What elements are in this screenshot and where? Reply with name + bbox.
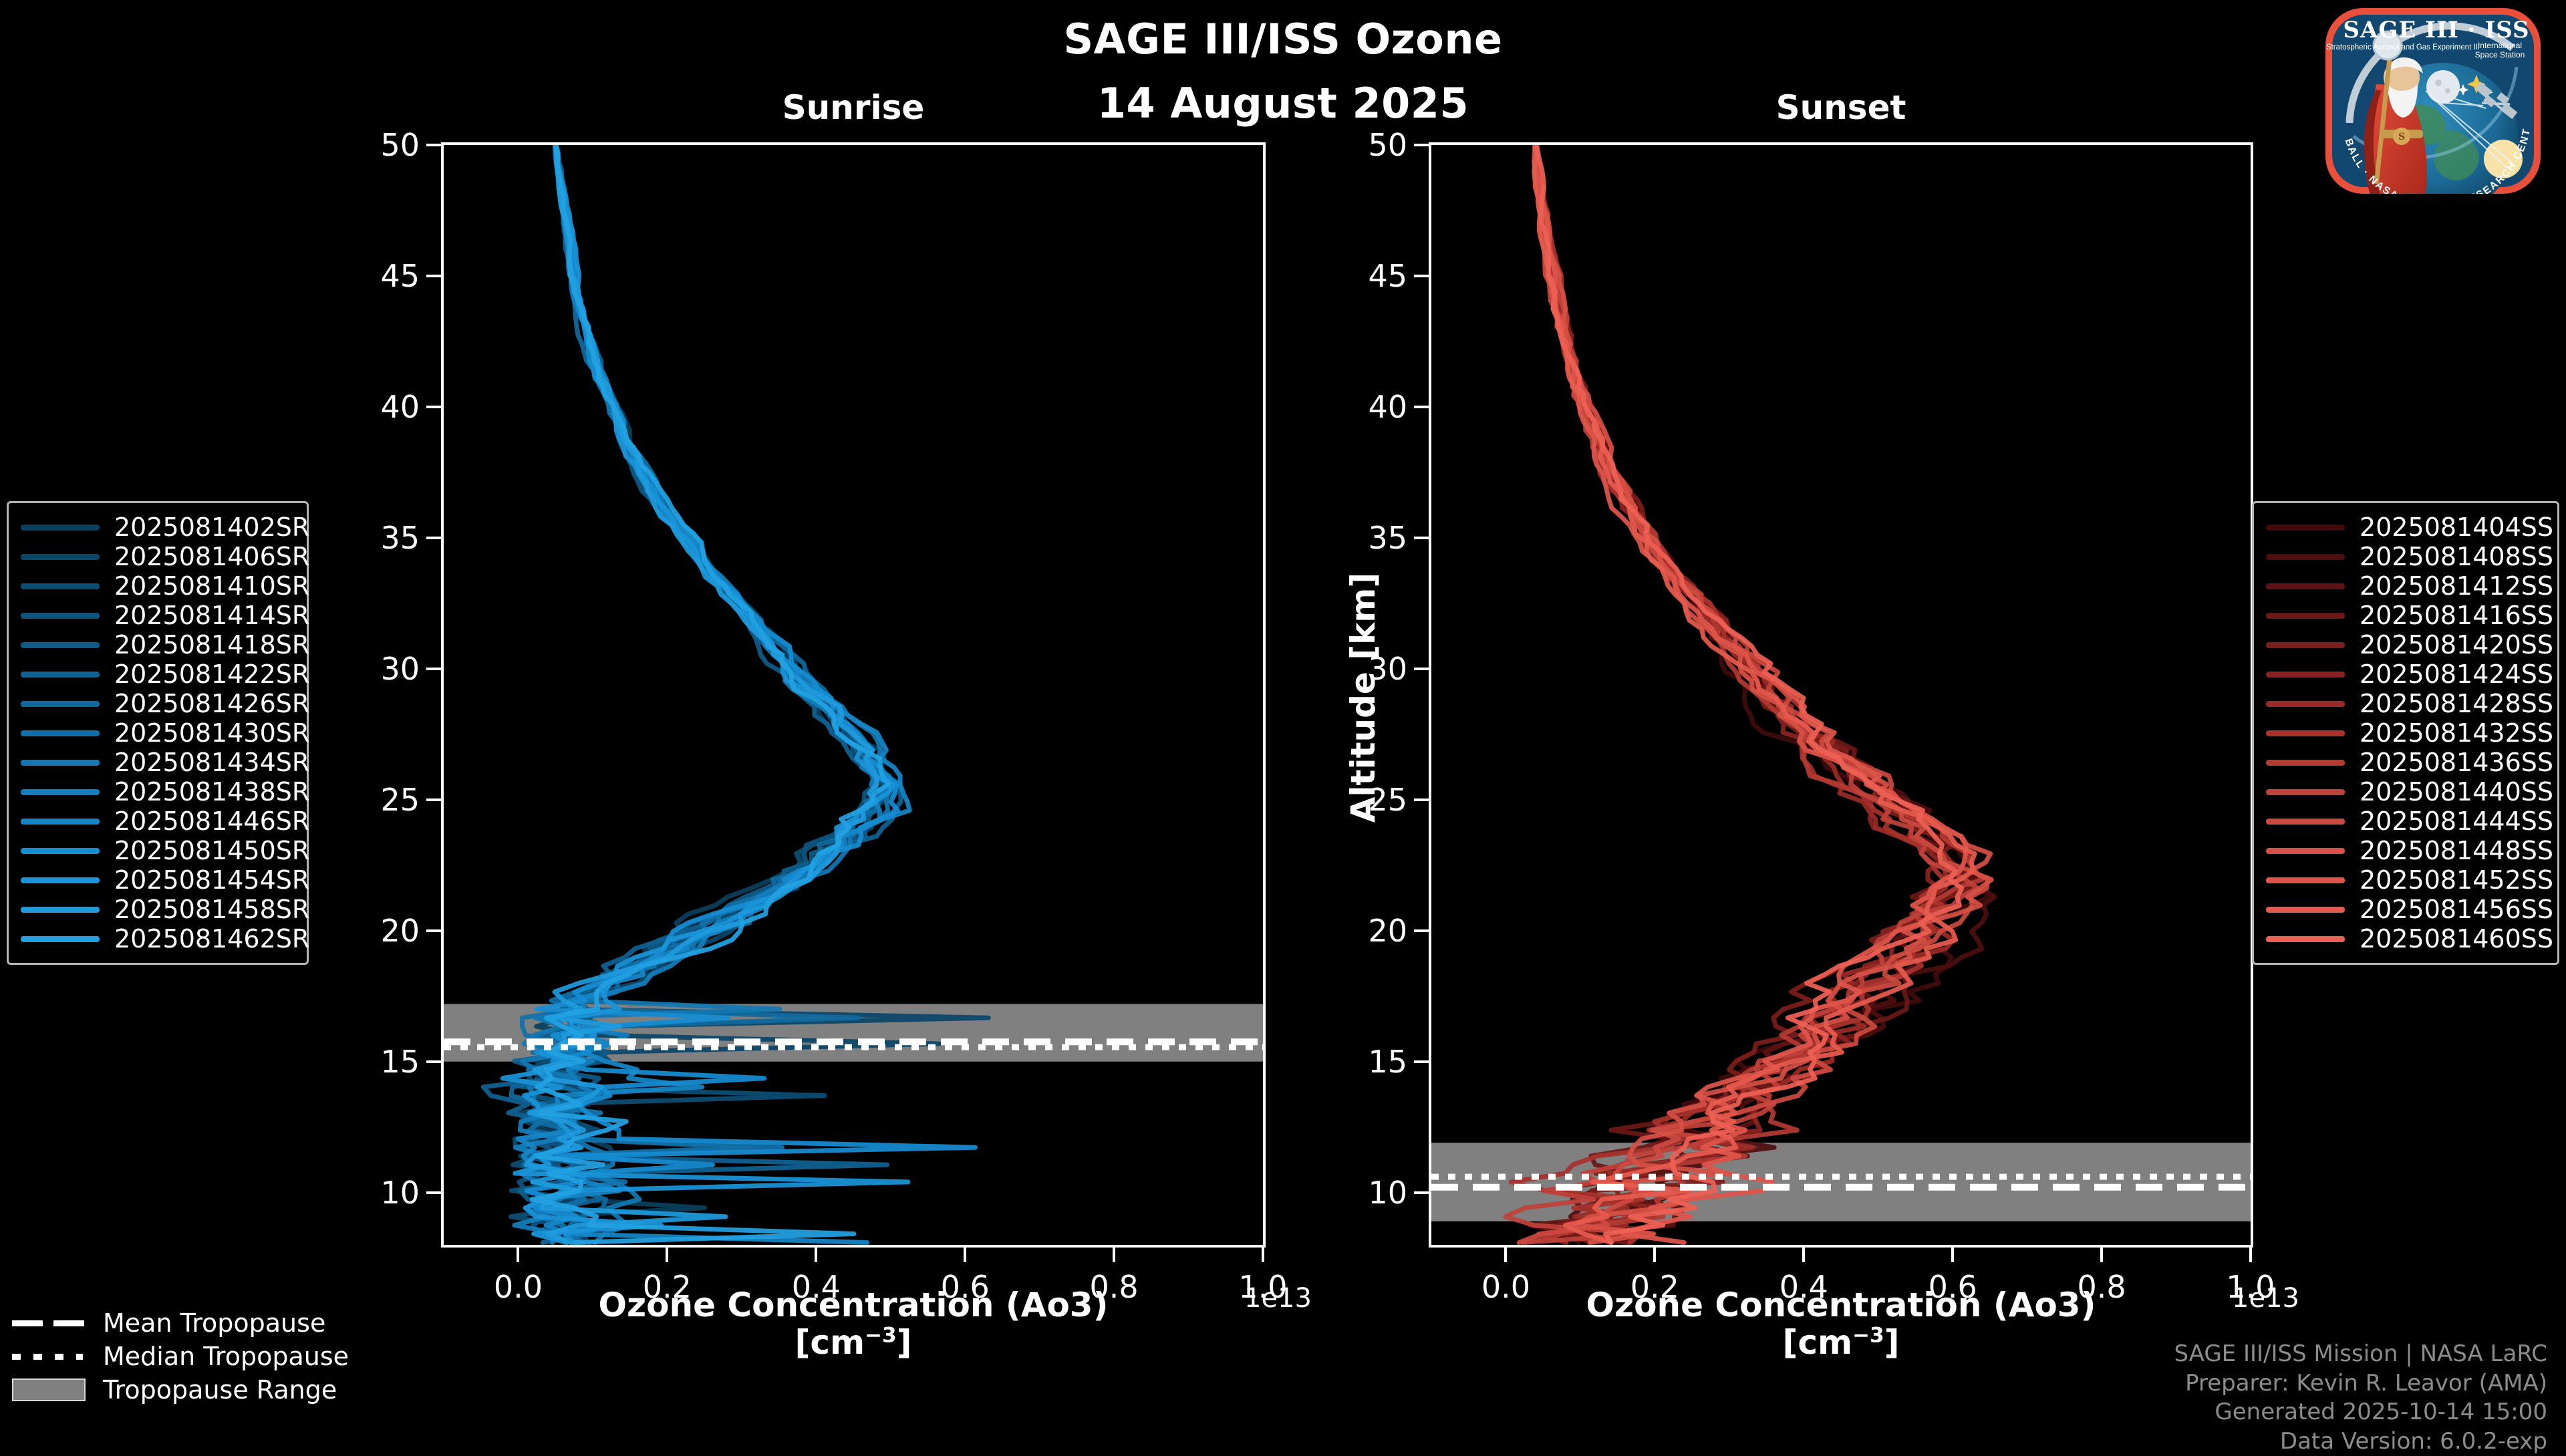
- y-tick-label-sunrise-30: 30: [334, 651, 420, 687]
- x-tick-label-sunrise-0.6: 0.6: [941, 1269, 990, 1305]
- legend-item-2025081460SS[interactable]: 2025081460SS: [2266, 924, 2545, 954]
- y-tick-sunrise-10: [426, 1191, 441, 1194]
- legend-item-2025081462SR[interactable]: 2025081462SR: [21, 924, 295, 954]
- legend-label-2025081420SS: 2025081420SS: [2360, 630, 2553, 660]
- legend-label-2025081458SR: 2025081458SR: [114, 895, 309, 924]
- legend-line-swatch-2025081416SS: [2266, 613, 2345, 619]
- legend-line-swatch-2025081444SS: [2266, 819, 2345, 825]
- y-tick-label-sunrise-20: 20: [334, 913, 420, 949]
- y-tick-label-sunset-45: 45: [1322, 258, 1407, 294]
- legend-line-swatch-2025081436SS: [2266, 760, 2345, 766]
- legend-line-swatch-2025081410SR: [21, 583, 100, 589]
- legend-item-2025081402SR[interactable]: 2025081402SR: [21, 513, 295, 542]
- legend-item-2025081446SR[interactable]: 2025081446SR: [21, 807, 295, 836]
- legend-label-2025081418SR: 2025081418SR: [114, 630, 309, 660]
- legend-label-2025081410SR: 2025081410SR: [114, 571, 309, 601]
- x-tick-label-sunrise-0.0: 0.0: [494, 1269, 543, 1305]
- legend-item-2025081418SR[interactable]: 2025081418SR: [21, 630, 295, 660]
- legend-item-2025081424SS[interactable]: 2025081424SS: [2266, 660, 2545, 689]
- credits-line-4: Data Version: 6.0.2-exp: [2174, 1427, 2547, 1456]
- y-tick-label-sunrise-45: 45: [334, 258, 420, 294]
- legend-line-swatch-2025081402SR: [21, 525, 100, 531]
- legend-item-2025081410SR[interactable]: 2025081410SR: [21, 571, 295, 601]
- y-tick-label-sunrise-35: 35: [334, 520, 420, 556]
- y-tick-sunrise-40: [426, 406, 441, 408]
- subplot-title-sunset: Sunset: [1429, 88, 2253, 127]
- legend-line-swatch-2025081422SR: [21, 672, 100, 678]
- x-axis-label-sunset: Ozone Concentration (Ao3) [cm−3]: [1429, 1286, 2253, 1361]
- x-tick-sunrise-0.2: [666, 1248, 668, 1262]
- x-tick-label-sunrise-1.0: 1.0: [1238, 1269, 1287, 1305]
- y-tick-sunset-45: [1414, 275, 1429, 277]
- x-tick-sunrise-0.6: [964, 1248, 966, 1262]
- svg-text:Space Station: Space Station: [2475, 50, 2525, 59]
- legend-item-2025081438SR[interactable]: 2025081438SR: [21, 777, 295, 807]
- figure-title-line1: SAGE III/ISS Ozone: [0, 15, 2566, 63]
- legend-item-tropopause-range[interactable]: Tropopause Range: [12, 1373, 349, 1407]
- legend-line-swatch-2025081450SR: [21, 848, 100, 854]
- legend-line-swatch-2025081438SR: [21, 789, 100, 795]
- legend-label-2025081432SS: 2025081432SS: [2360, 718, 2553, 748]
- x-tick-sunrise-1.0: [1262, 1248, 1264, 1262]
- y-tick-sunset-50: [1414, 144, 1429, 146]
- y-tick-label-sunset-30: 30: [1322, 651, 1407, 687]
- y-tick-sunset-15: [1414, 1060, 1429, 1063]
- svg-text:S: S: [2398, 132, 2405, 142]
- x-tick-label-sunset-1.0: 1.0: [2226, 1269, 2275, 1305]
- legend-item-2025081430SR[interactable]: 2025081430SR: [21, 718, 295, 748]
- x-axis-unit-sunset: [cm−3]: [1429, 1324, 2253, 1361]
- legend-label-2025081450SR: 2025081450SR: [114, 836, 309, 865]
- dashed-line-icon: [12, 1316, 86, 1330]
- legend-line-swatch-2025081454SR: [21, 877, 100, 883]
- legend-label-2025081446SR: 2025081446SR: [114, 807, 309, 836]
- y-tick-sunrise-25: [426, 798, 441, 801]
- svg-text:SAGE III · ISS: SAGE III · ISS: [2343, 17, 2529, 43]
- legend-item-2025081454SR[interactable]: 2025081454SR: [21, 865, 295, 895]
- legend-label-tropopause-range: Tropopause Range: [103, 1375, 337, 1405]
- svg-text:International: International: [2478, 41, 2522, 50]
- legend-line-swatch-2025081404SS: [2266, 525, 2345, 531]
- legend-item-2025081436SS[interactable]: 2025081436SS: [2266, 748, 2545, 777]
- logo-svg: S BALL · NASA LANGLEY RESEARCH CENTER · …: [2312, 5, 2553, 194]
- gray-patch-icon: [12, 1378, 86, 1401]
- legend-label-2025081402SR: 2025081402SR: [114, 513, 309, 542]
- legend-label-2025081404SS: 2025081404SS: [2360, 513, 2553, 542]
- legend-line-swatch-2025081434SR: [21, 760, 100, 766]
- x-tick-label-sunset-0.0: 0.0: [1481, 1269, 1530, 1305]
- credits-line-3: Generated 2025-10-14 15:00: [2174, 1398, 2547, 1427]
- y-tick-sunset-35: [1414, 537, 1429, 539]
- legend-item-2025081408SS[interactable]: 2025081408SS: [2266, 542, 2545, 571]
- x-tick-sunset-1.0: [2249, 1248, 2252, 1262]
- y-tick-label-sunset-20: 20: [1322, 913, 1407, 949]
- y-tick-label-sunrise-40: 40: [334, 389, 420, 425]
- legend-item-2025081404SS[interactable]: 2025081404SS: [2266, 513, 2545, 542]
- legend-label-2025081424SS: 2025081424SS: [2360, 660, 2553, 689]
- y-tick-sunrise-15: [426, 1060, 441, 1063]
- legend-label-2025081426SR: 2025081426SR: [114, 689, 309, 718]
- legend-item-2025081406SR[interactable]: 2025081406SR: [21, 542, 295, 571]
- legend-label-2025081448SS: 2025081448SS: [2360, 836, 2553, 865]
- legend-label-2025081430SR: 2025081430SR: [114, 718, 309, 748]
- legend-label-median-tropopause: Median Tropopause: [103, 1342, 349, 1371]
- y-tick-sunset-10: [1414, 1191, 1429, 1194]
- legend-label-2025081462SR: 2025081462SR: [114, 924, 309, 954]
- y-tick-label-sunrise-50: 50: [334, 127, 420, 163]
- legend-item-2025081452SS[interactable]: 2025081452SS: [2266, 865, 2545, 895]
- y-tick-sunrise-45: [426, 275, 441, 277]
- svg-text:Stratospheric Aerosol and Gas: Stratospheric Aerosol and Gas Experiment…: [2326, 43, 2480, 51]
- legend-line-swatch-2025081428SS: [2266, 701, 2345, 707]
- legend-line-swatch-2025081406SR: [21, 554, 100, 560]
- sage-iii-iss-logo: S BALL · NASA LANGLEY RESEARCH CENTER · …: [2312, 5, 2553, 194]
- legend-item-2025081432SS[interactable]: 2025081432SS: [2266, 718, 2545, 748]
- legend-item-2025081426SR[interactable]: 2025081426SR: [21, 689, 295, 718]
- plot-area-sunset: [1429, 142, 2253, 1248]
- y-tick-label-sunset-35: 35: [1322, 520, 1407, 556]
- legend-item-2025081444SS[interactable]: 2025081444SS: [2266, 807, 2545, 836]
- legend-label-2025081416SS: 2025081416SS: [2360, 601, 2553, 630]
- y-tick-label-sunset-25: 25: [1322, 782, 1407, 818]
- x-axis-unit-sunrise: [cm−3]: [441, 1324, 1266, 1361]
- x-tick-sunset-0.8: [2100, 1248, 2103, 1262]
- legend-item-mean-tropopause[interactable]: Mean Tropopause: [12, 1306, 349, 1340]
- legend-label-2025081454SR: 2025081454SR: [114, 865, 309, 895]
- plot-area-sunrise: [441, 142, 1266, 1248]
- legend-line-swatch-2025081420SS: [2266, 642, 2345, 648]
- legend-line-swatch-2025081460SS: [2266, 936, 2345, 942]
- y-tick-sunset-20: [1414, 929, 1429, 932]
- y-tick-label-sunset-40: 40: [1322, 389, 1407, 425]
- x-tick-label-sunrise-0.8: 0.8: [1090, 1269, 1139, 1305]
- legend-item-2025081458SR[interactable]: 2025081458SR: [21, 895, 295, 924]
- legend-item-2025081428SS[interactable]: 2025081428SS: [2266, 689, 2545, 718]
- y-tick-sunset-25: [1414, 798, 1429, 801]
- legend-line-swatch-2025081448SS: [2266, 848, 2345, 854]
- legend-label-2025081412SS: 2025081412SS: [2360, 571, 2553, 601]
- legend-line-swatch-2025081412SS: [2266, 583, 2345, 589]
- x-tick-sunset-0.6: [1951, 1248, 1954, 1262]
- legend-line-swatch-2025081452SS: [2266, 877, 2345, 883]
- legend-line-swatch-2025081408SS: [2266, 554, 2345, 560]
- legend-label-2025081440SS: 2025081440SS: [2360, 777, 2553, 807]
- legend-line-swatch-2025081462SR: [21, 936, 100, 942]
- x-tick-label-sunset-0.8: 0.8: [2078, 1269, 2126, 1305]
- x-tick-sunrise-0.8: [1113, 1248, 1115, 1262]
- y-tick-sunset-40: [1414, 406, 1429, 408]
- legend-label-mean-tropopause: Mean Tropopause: [103, 1308, 325, 1338]
- legend-line-swatch-2025081432SS: [2266, 730, 2345, 736]
- y-tick-label-sunrise-10: 10: [334, 1175, 420, 1211]
- legend-line-swatch-2025081456SS: [2266, 907, 2345, 913]
- legend-item-2025081412SS[interactable]: 2025081412SS: [2266, 571, 2545, 601]
- tropopause-range-band-sunset: [1431, 1143, 2251, 1221]
- y-tick-label-sunrise-25: 25: [334, 782, 420, 818]
- legend-item-2025081416SS[interactable]: 2025081416SS: [2266, 601, 2545, 630]
- legend-label-2025081444SS: 2025081444SS: [2360, 807, 2553, 836]
- legend-label-2025081422SR: 2025081422SR: [114, 660, 309, 689]
- legend-item-2025081456SS[interactable]: 2025081456SS: [2266, 895, 2545, 924]
- legend-line-swatch-2025081458SR: [21, 907, 100, 913]
- y-tick-sunrise-30: [426, 668, 441, 670]
- legend-item-2025081434SR[interactable]: 2025081434SR: [21, 748, 295, 777]
- x-tick-label-sunset-0.6: 0.6: [1929, 1269, 1977, 1305]
- legend-line-swatch-2025081426SR: [21, 701, 100, 707]
- sunset-profile-svg: [1431, 145, 2251, 1245]
- legend-item-2025081450SR[interactable]: 2025081450SR: [21, 836, 295, 865]
- credits-line-2: Preparer: Kevin R. Leavor (AMA): [2174, 1369, 2547, 1399]
- legend-line-swatch-2025081424SS: [2266, 672, 2345, 678]
- legend-sunrise-events[interactable]: 2025081402SR2025081406SR2025081410SR2025…: [7, 501, 309, 965]
- legend-line-swatch-2025081446SR: [21, 819, 100, 825]
- legend-item-2025081420SS[interactable]: 2025081420SS: [2266, 630, 2545, 660]
- legend-line-swatch-2025081430SR: [21, 730, 100, 736]
- x-tick-label-sunset-0.2: 0.2: [1630, 1269, 1679, 1305]
- y-tick-label-sunset-15: 15: [1322, 1044, 1407, 1080]
- y-tick-label-sunset-10: 10: [1322, 1175, 1407, 1211]
- x-tick-label-sunrise-0.2: 0.2: [643, 1269, 692, 1305]
- y-tick-sunset-30: [1414, 668, 1429, 670]
- legend-line-swatch-2025081440SS: [2266, 789, 2345, 795]
- credits-block: SAGE III/ISS Mission | NASA LaRCPreparer…: [2174, 1340, 2547, 1456]
- legend-item-2025081414SR[interactable]: 2025081414SR: [21, 601, 295, 630]
- x-axis-label-sunrise: Ozone Concentration (Ao3) [cm−3]: [441, 1286, 1266, 1361]
- x-tick-label-sunset-0.4: 0.4: [1779, 1269, 1828, 1305]
- subplot-title-sunrise: Sunrise: [441, 88, 1266, 127]
- legend-label-2025081460SS: 2025081460SS: [2360, 924, 2553, 954]
- legend-item-2025081422SR[interactable]: 2025081422SR: [21, 660, 295, 689]
- legend-sunset-events[interactable]: 2025081404SS2025081408SS2025081412SS2025…: [2252, 501, 2559, 965]
- legend-line-swatch-2025081418SR: [21, 642, 100, 648]
- legend-label-2025081434SR: 2025081434SR: [114, 748, 309, 777]
- legend-label-2025081414SR: 2025081414SR: [114, 601, 309, 630]
- legend-line-swatch-2025081414SR: [21, 613, 100, 619]
- legend-label-2025081456SS: 2025081456SS: [2360, 895, 2553, 924]
- legend-label-2025081438SR: 2025081438SR: [114, 777, 309, 807]
- y-tick-label-sunset-50: 50: [1322, 127, 1407, 163]
- y-tick-sunrise-35: [426, 537, 441, 539]
- credits-line-1: SAGE III/ISS Mission | NASA LaRC: [2174, 1340, 2547, 1369]
- legend-label-2025081408SS: 2025081408SS: [2360, 542, 2553, 571]
- figure-canvas: SAGE III/ISS Ozone 14 August 2025 Sunris…: [0, 0, 2566, 1443]
- y-tick-label-sunrise-15: 15: [334, 1044, 420, 1080]
- legend-item-2025081440SS[interactable]: 2025081440SS: [2266, 777, 2545, 807]
- legend-label-2025081452SS: 2025081452SS: [2360, 865, 2553, 895]
- y-tick-sunrise-50: [426, 144, 441, 146]
- x-tick-sunset-0.4: [1802, 1248, 1805, 1262]
- legend-label-2025081406SR: 2025081406SR: [114, 542, 309, 571]
- legend-item-median-tropopause[interactable]: Median Tropopause: [12, 1340, 349, 1373]
- y-tick-sunrise-20: [426, 929, 441, 932]
- sunrise-profile-svg: [444, 145, 1263, 1245]
- x-tick-sunrise-0.4: [815, 1248, 817, 1262]
- x-tick-sunset-0.2: [1653, 1248, 1656, 1262]
- x-tick-sunset-0.0: [1504, 1248, 1507, 1262]
- dotted-line-icon: [12, 1349, 86, 1364]
- legend-item-2025081448SS[interactable]: 2025081448SS: [2266, 836, 2545, 865]
- x-tick-sunrise-0.0: [517, 1248, 519, 1262]
- legend-tropopause[interactable]: Mean Tropopause Median Tropopause Tropop…: [12, 1306, 349, 1407]
- legend-label-2025081428SS: 2025081428SS: [2360, 689, 2553, 718]
- legend-label-2025081436SS: 2025081436SS: [2360, 748, 2553, 777]
- x-tick-label-sunrise-0.4: 0.4: [792, 1269, 841, 1305]
